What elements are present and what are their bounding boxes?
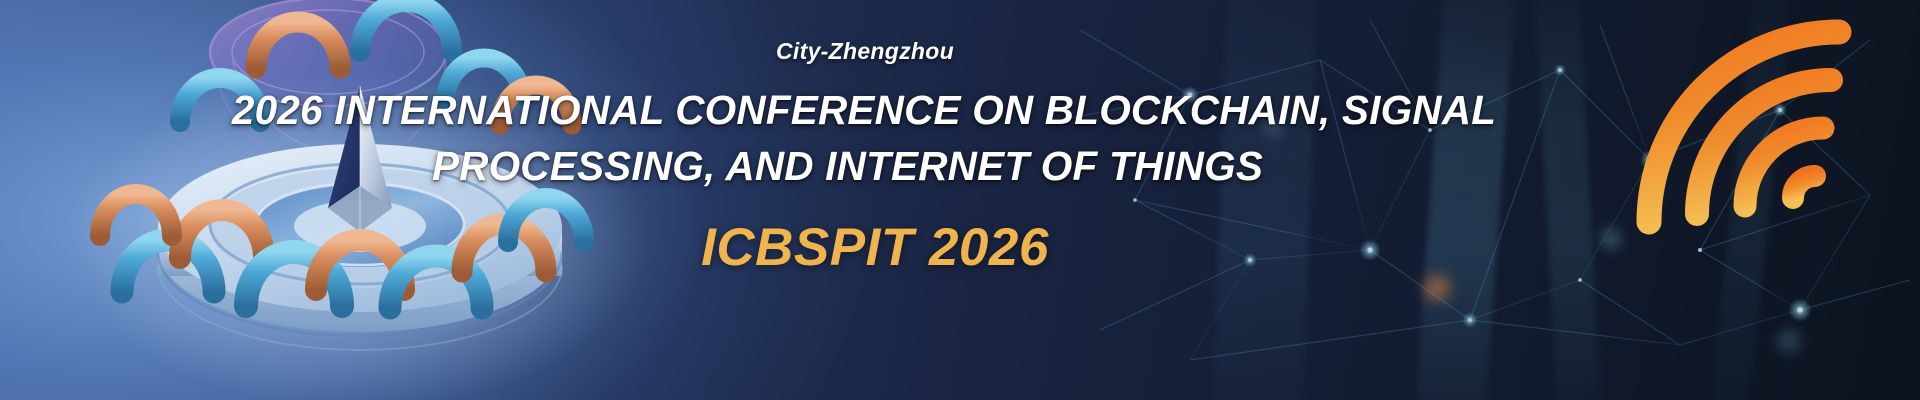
conference-acronym: ICBSPIT 2026: [701, 217, 1049, 278]
city-label: City-Zhengzhou: [776, 38, 954, 65]
banner-text-block: City-Zhengzhou 2026 INTERNATIONAL CONFER…: [0, 0, 1920, 400]
conference-title: 2026 INTERNATIONAL CONFERENCE ON BLOCKCH…: [254, 83, 1496, 195]
conference-banner: City-Zhengzhou 2026 INTERNATIONAL CONFER…: [0, 0, 1920, 400]
conference-title-line-2: PROCESSING, AND INTERNET OF THINGS: [199, 139, 1496, 195]
conference-title-line-1: 2026 INTERNATIONAL CONFERENCE ON BLOCKCH…: [232, 83, 1496, 139]
